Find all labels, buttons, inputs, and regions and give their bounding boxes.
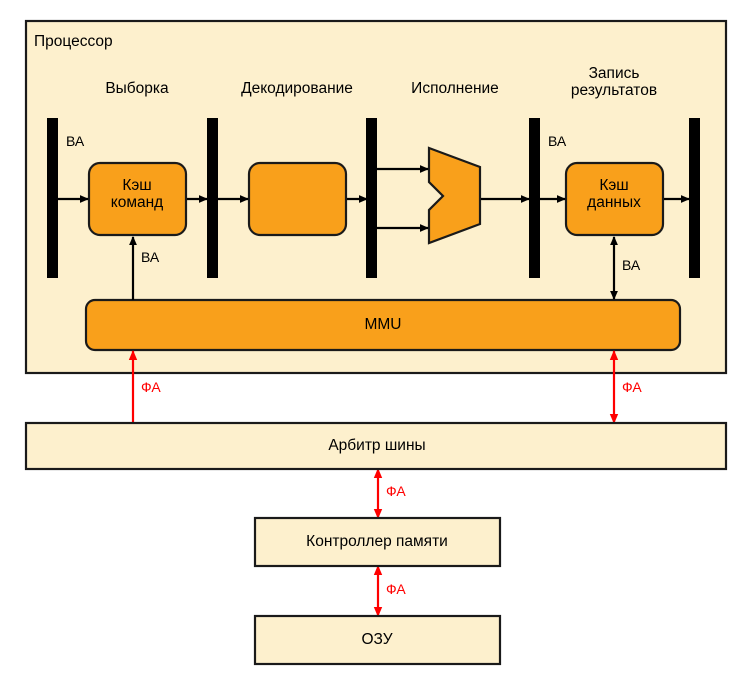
mmu-box bbox=[86, 300, 680, 350]
ram-box bbox=[255, 616, 500, 664]
decoder-box bbox=[249, 163, 346, 235]
data-cache-box bbox=[566, 163, 663, 235]
pipeline-register-1 bbox=[47, 118, 58, 278]
pipeline-register-3 bbox=[366, 118, 377, 278]
memory-controller-box bbox=[255, 518, 500, 566]
diagram-canvas bbox=[0, 0, 753, 689]
bus-arbiter-box bbox=[26, 423, 726, 469]
pipeline-register-2 bbox=[207, 118, 218, 278]
pipeline-register-4 bbox=[529, 118, 540, 278]
instruction-cache-box bbox=[89, 163, 186, 235]
pipeline-register-5 bbox=[689, 118, 700, 278]
cpu-memory-hierarchy-diagram: Процессор Выборка Декодирование Исполнен… bbox=[0, 0, 753, 689]
